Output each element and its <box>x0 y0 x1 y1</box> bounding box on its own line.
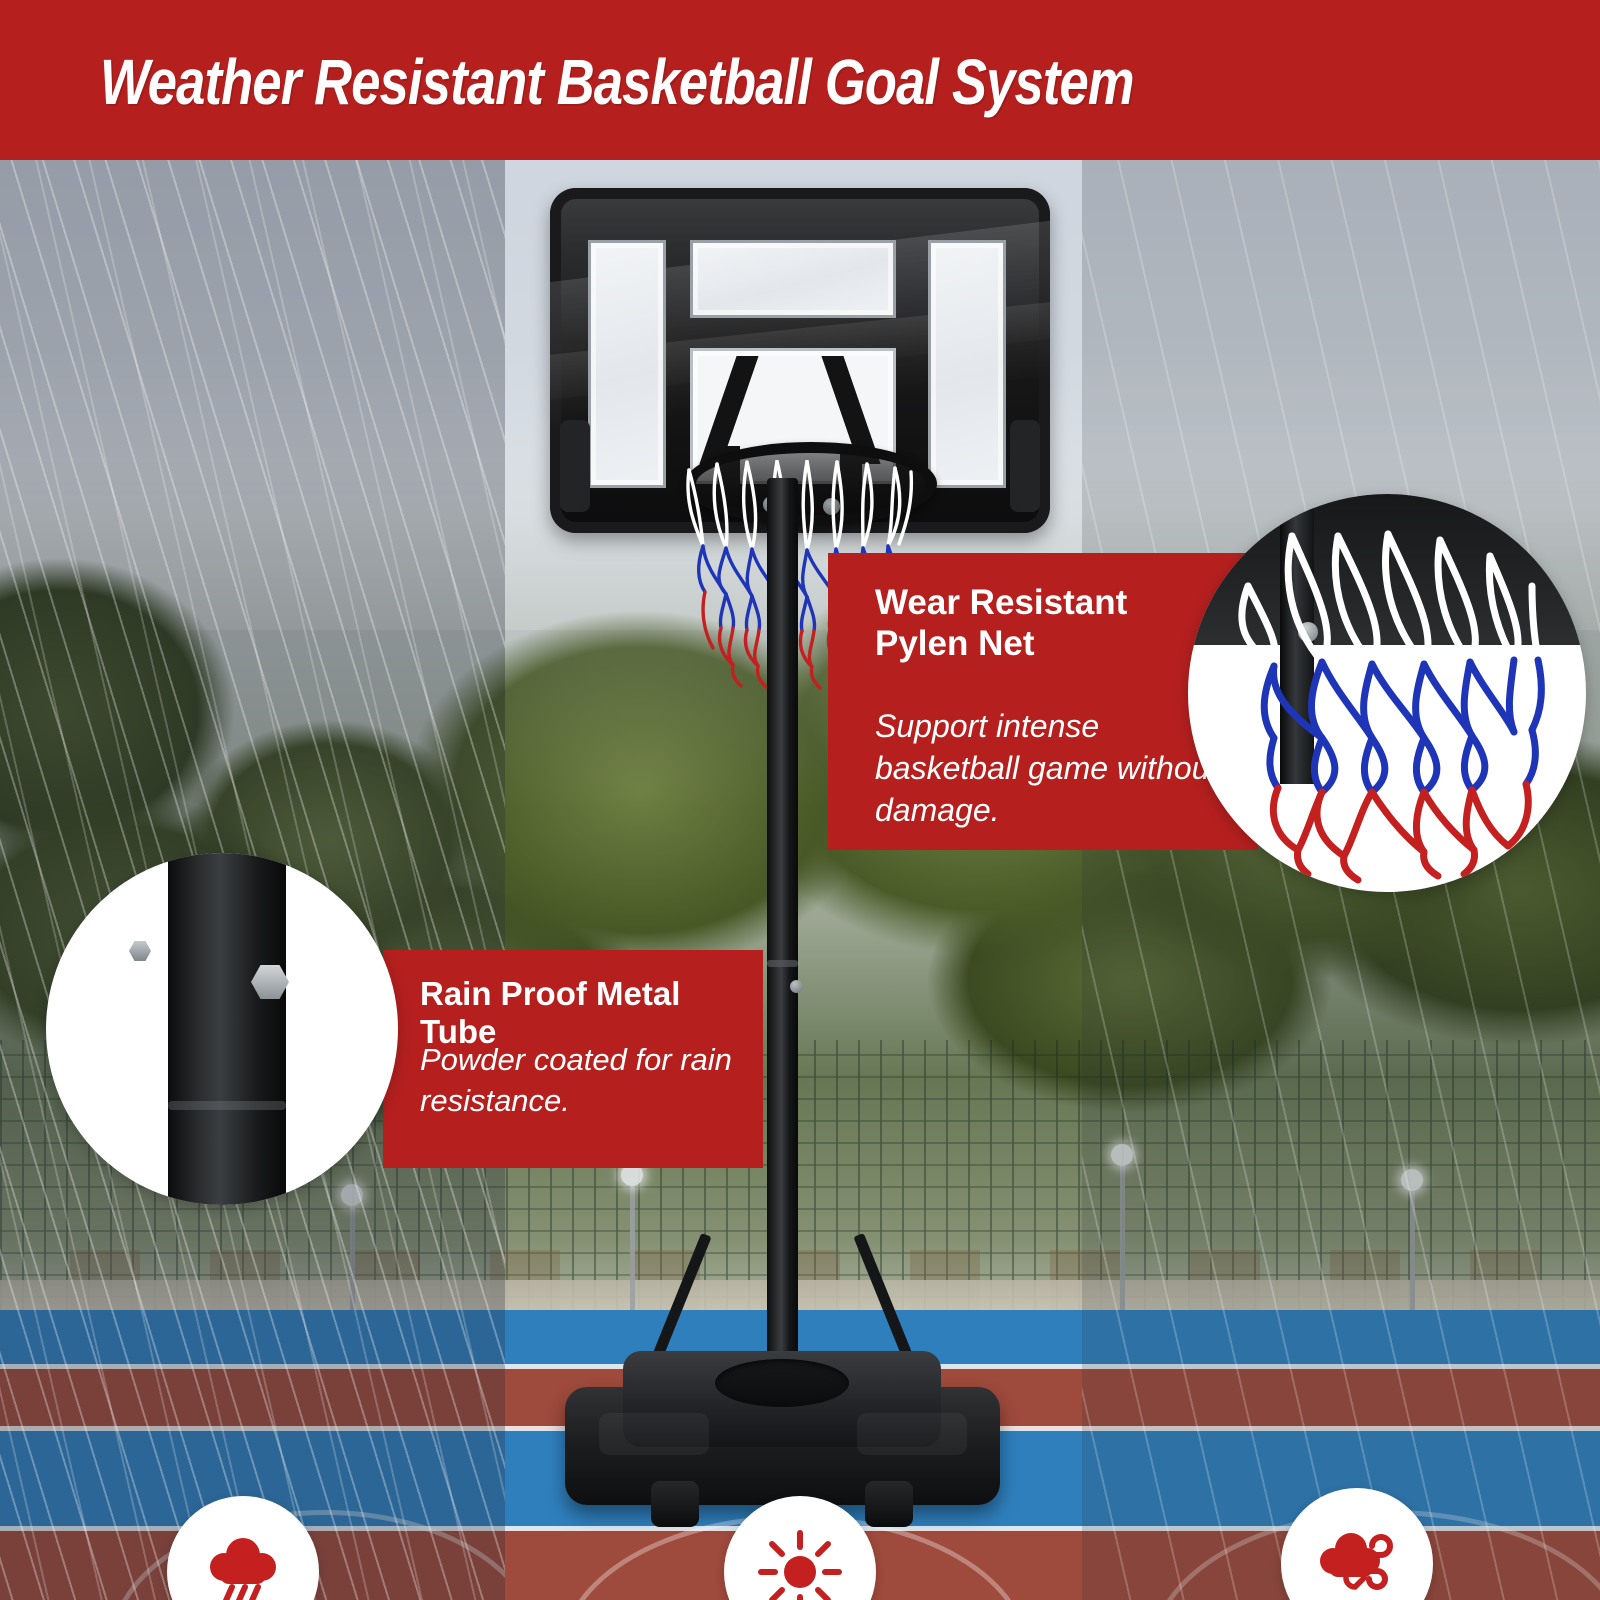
callout-net-title-line2: Pylen Net <box>875 624 1035 663</box>
detail-circle-net <box>1188 494 1586 892</box>
backboard-pane-right <box>928 240 1006 488</box>
callout-net-title: Wear Resistant Pylen Net <box>875 583 1205 664</box>
backboard-pane-left <box>588 240 666 488</box>
callout-net-body: Support intense basketball game without … <box>875 705 1225 832</box>
detail-circle-tube <box>46 853 398 1205</box>
portable-base <box>565 1335 1000 1513</box>
backboard-pane-top <box>690 240 896 318</box>
callout-tube-body: Powder coated for rain resistance. <box>420 1040 750 1122</box>
detail-tube-pole <box>168 853 286 1205</box>
base-fill-cap <box>715 1359 849 1407</box>
detail-net-svg <box>1188 494 1586 892</box>
detail-tube-seam <box>168 1101 286 1110</box>
product-marketing-image: Weather Resistant Basketball Goal System <box>0 0 1600 1600</box>
rain-cloud-icon <box>200 1529 286 1600</box>
detail-tube-hex-bolt-far <box>129 941 151 961</box>
backboard-mount-ear-left <box>560 420 590 512</box>
pole-bolt <box>790 980 803 993</box>
sun-icon <box>757 1529 843 1600</box>
page-title: Weather Resistant Basketball Goal System <box>100 50 1134 114</box>
base-rib <box>599 1413 709 1455</box>
base-rib <box>857 1413 967 1455</box>
base-wheel-left <box>651 1481 699 1527</box>
basketball-goal-system <box>505 160 1082 1600</box>
base-wheel-right <box>865 1481 913 1527</box>
callout-tube: Rain Proof Metal Tube Powder coated for … <box>383 950 763 1168</box>
header-banner: Weather Resistant Basketball Goal System <box>0 0 1600 160</box>
callout-net-title-line1: Wear Resistant <box>875 583 1127 622</box>
backboard-mount-ear-right <box>1010 420 1040 512</box>
wind-cloud-icon <box>1311 1521 1403 1600</box>
pole-joint <box>767 960 798 967</box>
